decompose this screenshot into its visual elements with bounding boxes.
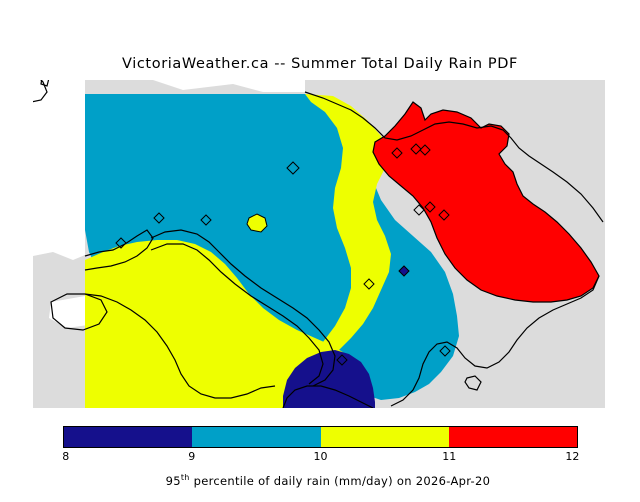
- colorbar-band-2: [321, 427, 449, 447]
- caption-superscript: th: [181, 473, 190, 482]
- page-title: VictoriaWeather.ca -- Summer Total Daily…: [0, 56, 640, 72]
- weather-map-page: VictoriaWeather.ca -- Summer Total Daily…: [0, 0, 640, 480]
- outside-water-west: [33, 80, 85, 260]
- colorbar: [63, 426, 578, 448]
- map-figure: [33, 80, 605, 408]
- colorbar-band-1: [192, 427, 320, 447]
- colorbar-band-0: [64, 427, 192, 447]
- caption-rest: percentile of daily rain (mm/day) on 202…: [190, 474, 491, 488]
- colorbar-band-3: [449, 427, 577, 447]
- colorbar-caption: 95th percentile of daily rain (mm/day) o…: [0, 459, 640, 502]
- caption-prefix: 95: [166, 474, 181, 488]
- contour-map: [33, 80, 605, 408]
